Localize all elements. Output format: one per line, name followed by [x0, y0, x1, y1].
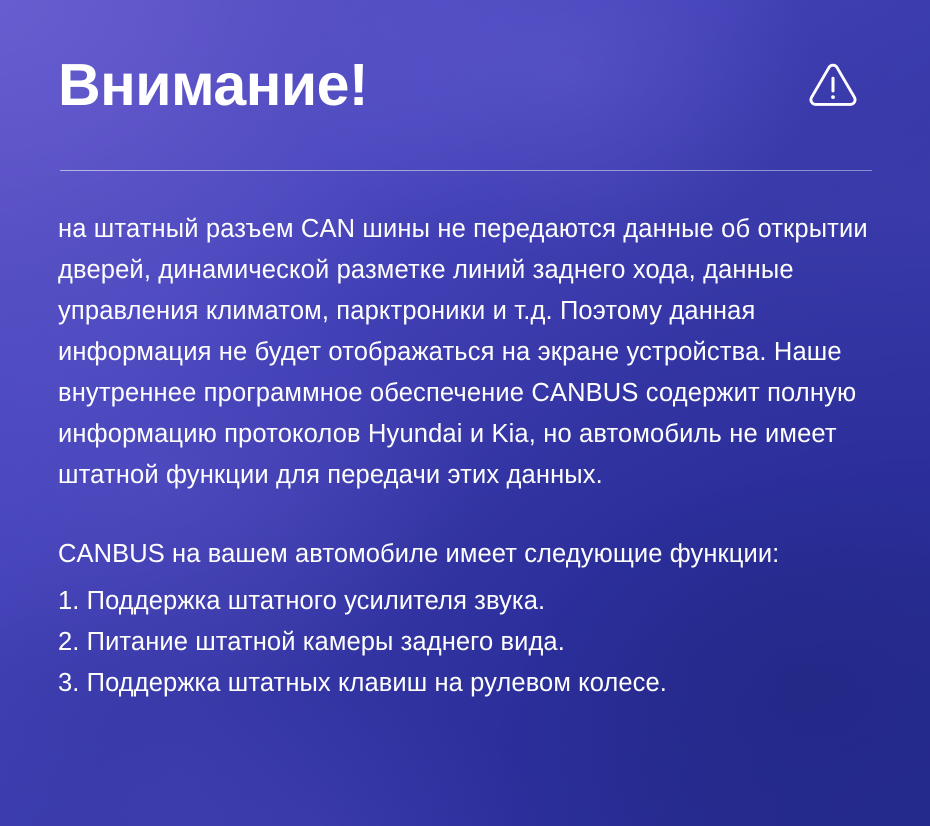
warning-triangle-icon — [806, 58, 860, 112]
features-list: 1. Поддержка штатного усилителя звука. 2… — [58, 581, 872, 704]
list-item: 3. Поддержка штатных клавиш на рулевом к… — [58, 663, 872, 704]
list-item: 2. Питание штатной камеры заднего вида. — [58, 622, 872, 663]
notice-paragraph: на штатный разъем CAN шины не передаются… — [58, 209, 872, 496]
banner-body: на штатный разъем CAN шины не передаются… — [58, 171, 872, 704]
banner-header: Внимание! — [58, 0, 872, 170]
page-title: Внимание! — [58, 56, 368, 115]
features-intro: CANBUS на вашем автомобиле имеет следующ… — [58, 534, 872, 575]
list-item: 1. Поддержка штатного усилителя звука. — [58, 581, 872, 622]
banner-content: Внимание! на штатный разъем CAN шины не … — [0, 0, 930, 826]
features-block: CANBUS на вашем автомобиле имеет следующ… — [58, 534, 872, 704]
attention-banner: Внимание! на штатный разъем CAN шины не … — [0, 0, 930, 826]
